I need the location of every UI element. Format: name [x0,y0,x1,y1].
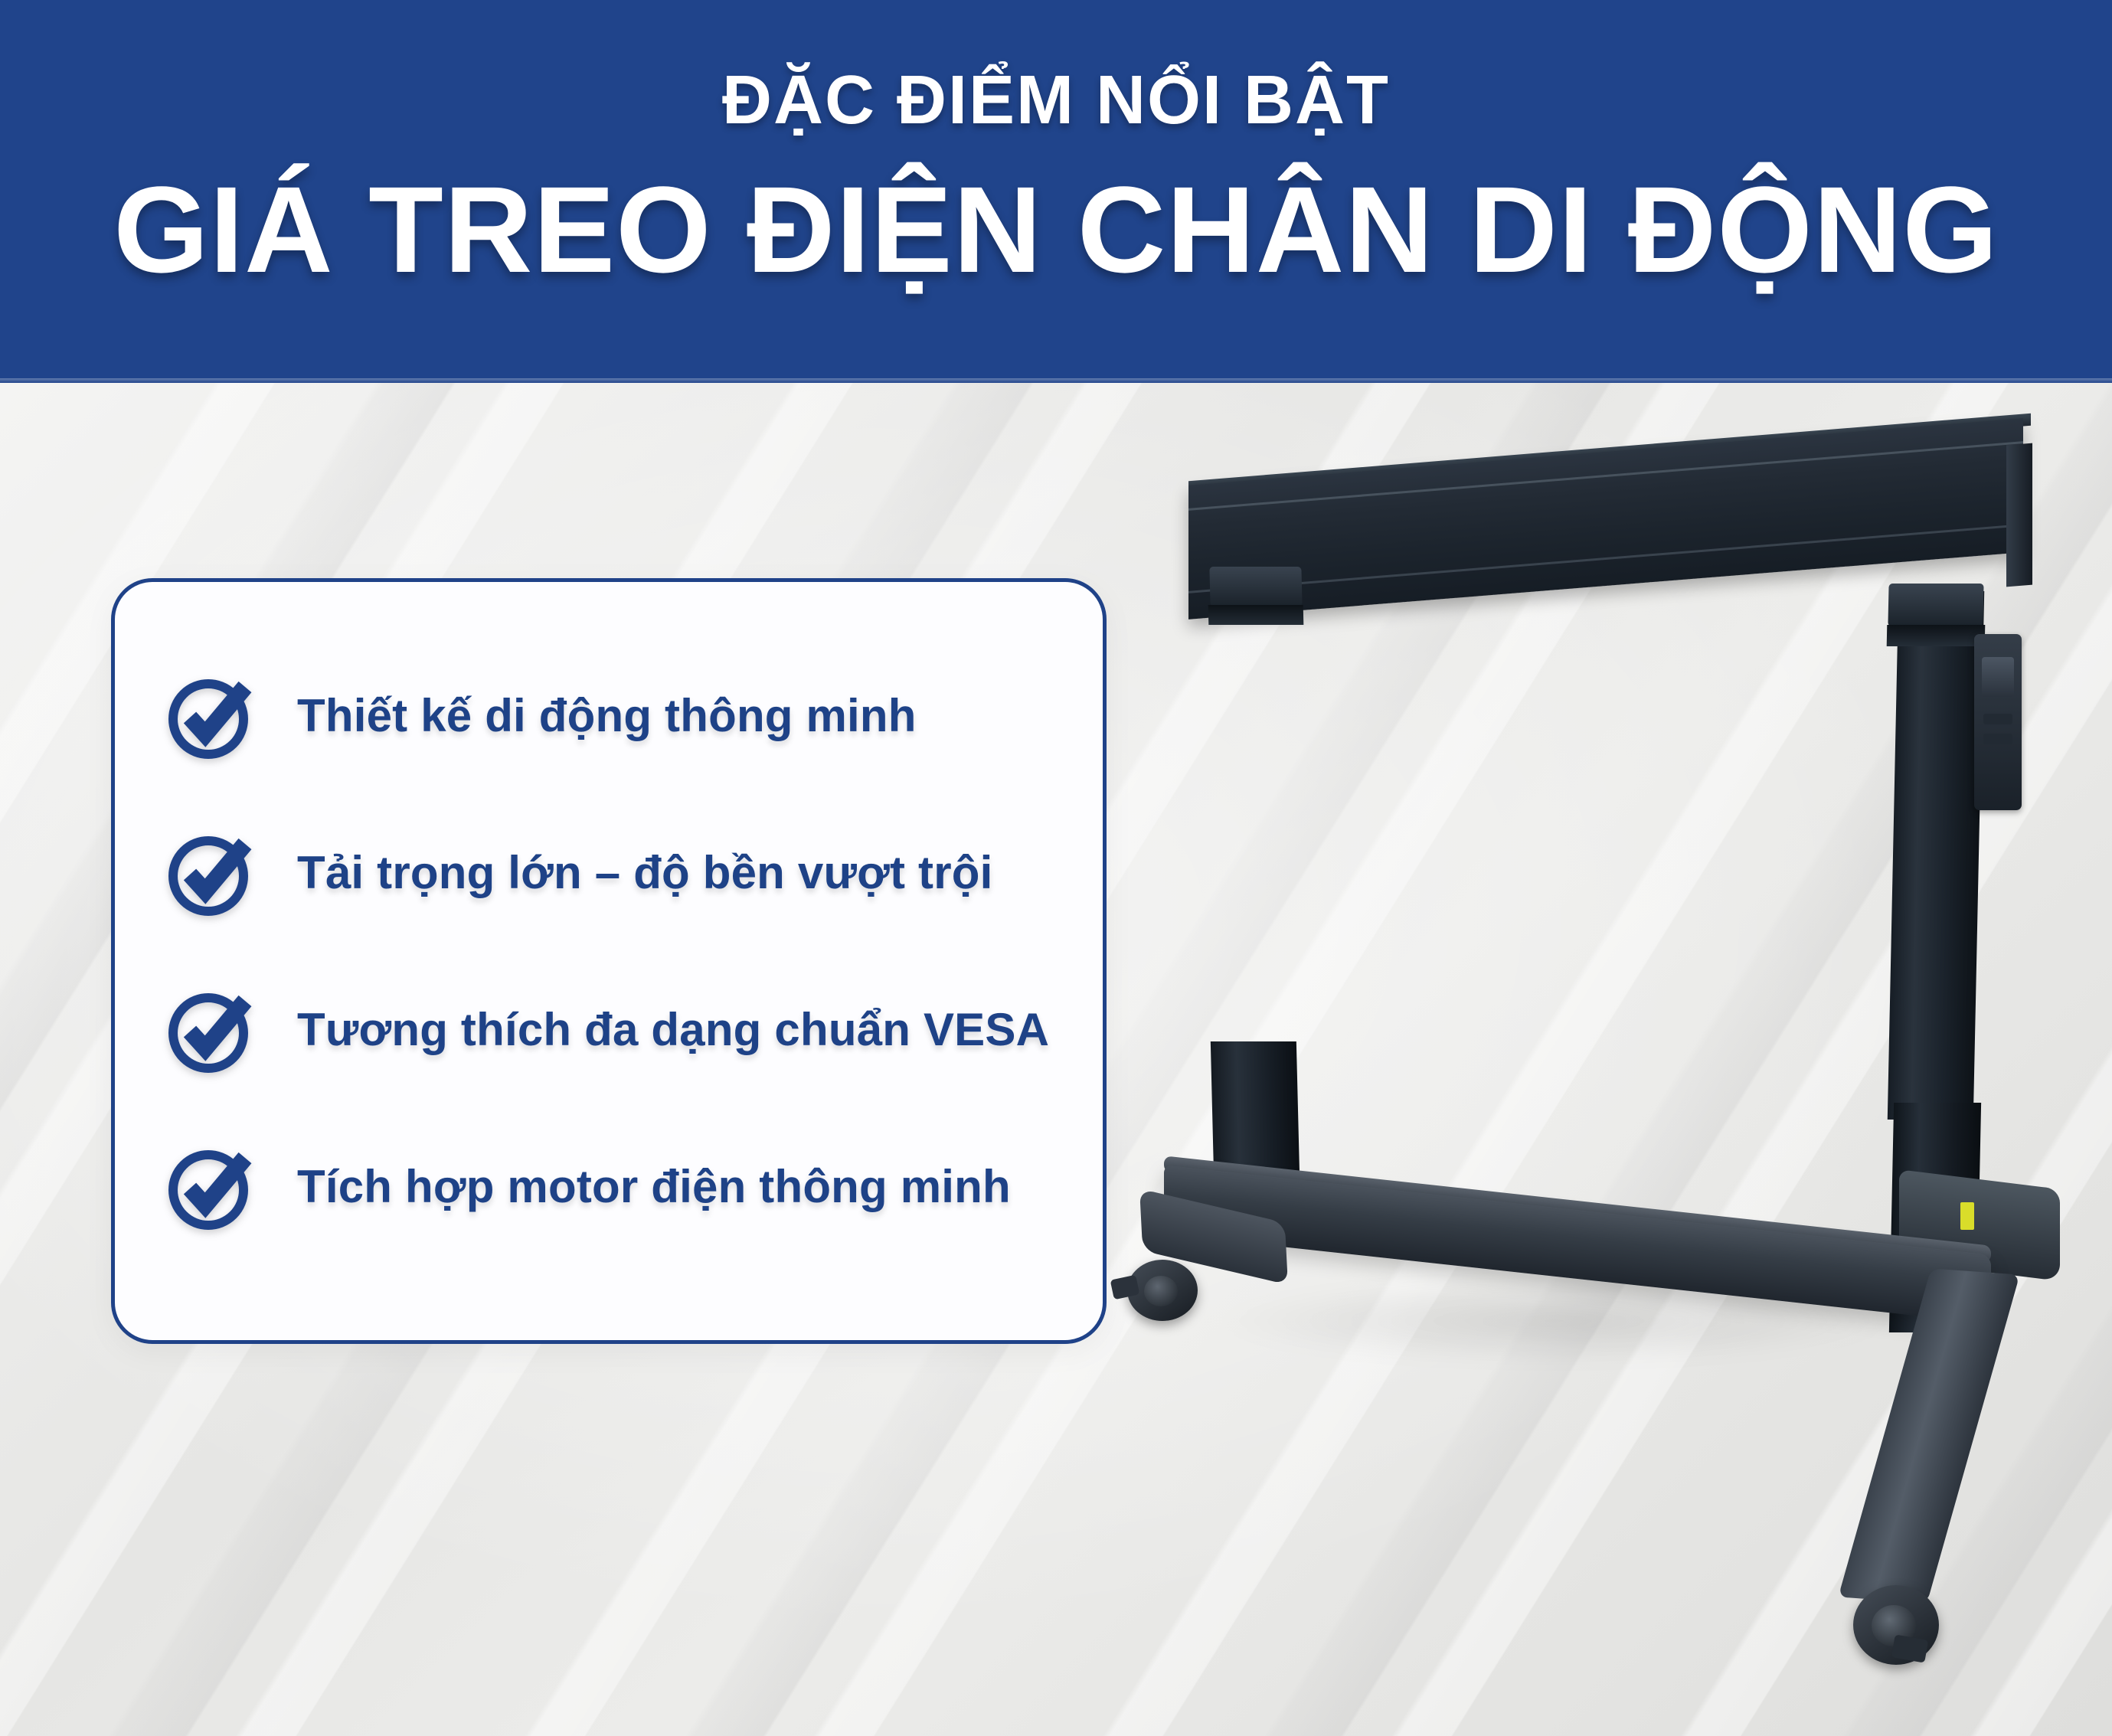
feature-label: Tải trọng lớn – độ bền vượt trội [297,848,992,898]
check-circle-icon [162,981,260,1079]
feature-card: Thiết kế di động thông minh Tải trọng lớ… [111,578,1107,1344]
check-circle-icon [162,824,260,922]
product-right-column [1888,591,1984,1120]
product-right-column-cap [1888,584,1983,626]
product-right-column-ring [1887,625,1986,646]
poster-root: ĐẶC ĐIỂM NỔI BẬT GIÁ TREO ĐIỆN CHÂN DI Đ… [0,0,2112,1736]
list-item[interactable]: Tương thích đa dạng chuẩn VESA [115,951,1103,1108]
list-item[interactable]: Tích hợp motor điện thông minh [115,1108,1103,1265]
product-left-column [1207,571,1303,1061]
list-item[interactable]: Thiết kế di động thông minh [115,637,1103,794]
product-left-column-cap [1209,567,1302,606]
feature-label: Thiết kế di động thông minh [297,691,917,741]
product-warning-label [1960,1202,1974,1230]
feature-list: Thiết kế di động thông minh Tải trọng lớ… [115,637,1103,1265]
check-circle-icon [162,667,260,765]
page-title: GIÁ TREO ĐIỆN CHÂN DI ĐỘNG [113,168,1999,291]
product-left-column-ring [1208,605,1304,625]
feature-label: Tích hợp motor điện thông minh [297,1162,1011,1212]
product-control-button-up [1983,714,2012,724]
list-item[interactable]: Tải trọng lớn – độ bền vượt trội [115,794,1103,951]
feature-label: Tương thích đa dạng chuẩn VESA [297,1005,1049,1055]
header-banner: ĐẶC ĐIỂM NỔI BẬT GIÁ TREO ĐIỆN CHÂN DI Đ… [0,0,2112,383]
check-circle-icon [162,1138,260,1236]
product-caster-rear-left-hub [1144,1276,1178,1306]
header-eyebrow: ĐẶC ĐIỂM NỔI BẬT [722,66,1390,135]
product-control-button-down [1983,734,2012,744]
product-control-display [1982,657,2014,697]
product-rail-end-cap [2006,443,2032,587]
product-image [1118,414,2106,1669]
